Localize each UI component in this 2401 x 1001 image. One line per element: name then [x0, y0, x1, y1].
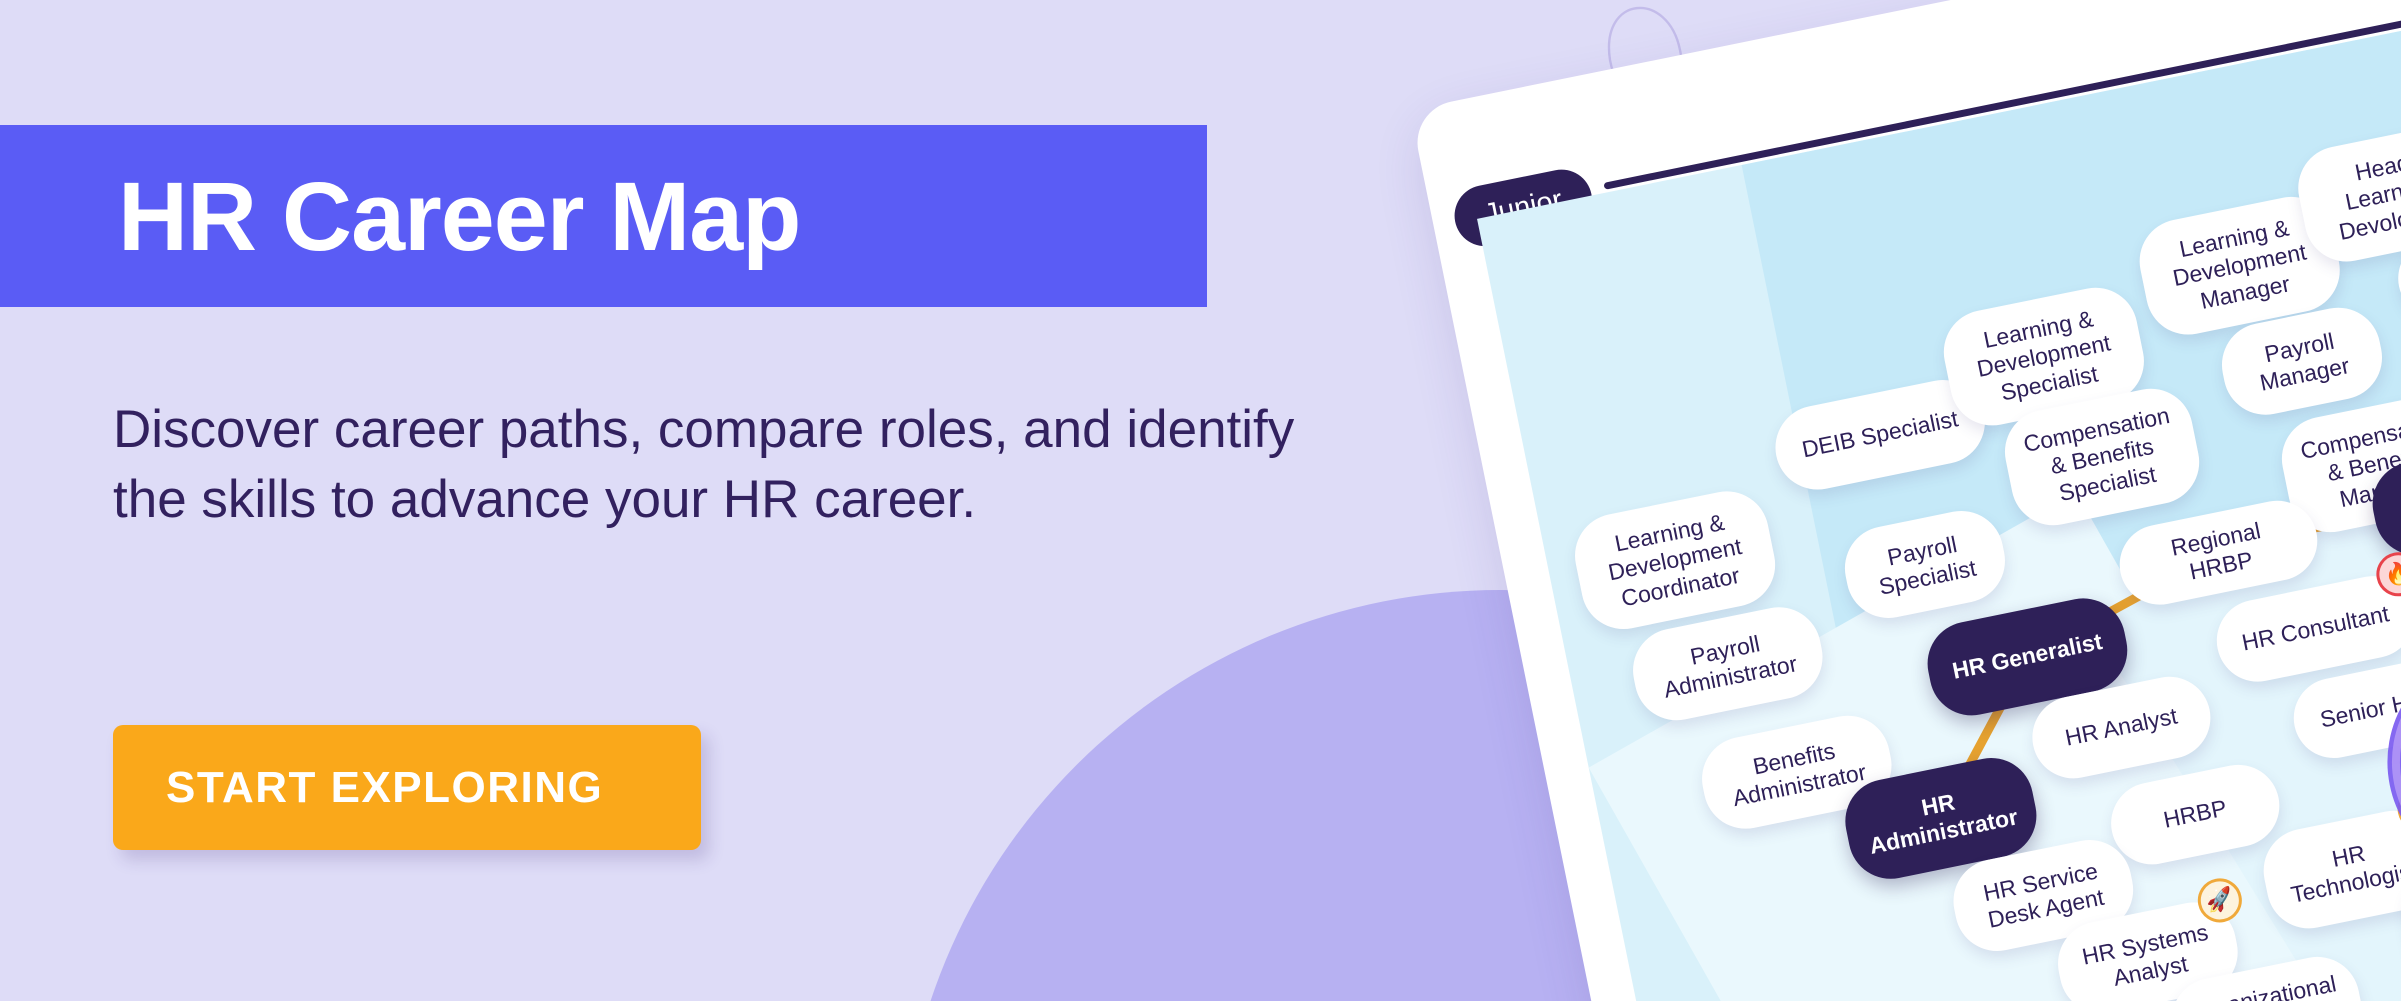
career-map-canvas[interactable]: Learning & Development CoordinatorDEIB S…	[1477, 0, 2401, 1001]
career-map-card[interactable]: Junior Learning & Development Coordinato…	[1410, 0, 2401, 1001]
hero-subtitle: Discover career paths, compare roles, an…	[113, 395, 1303, 536]
career-map-section: Junior Learning & Development Coordinato…	[1290, 0, 2401, 1001]
page-title: HR Career Map	[118, 168, 800, 265]
start-exploring-button[interactable]: START EXPLORING	[113, 725, 701, 850]
hero-section: HR Career Map Discover career paths, com…	[0, 0, 1300, 1001]
page-title-band: HR Career Map	[0, 125, 1207, 307]
